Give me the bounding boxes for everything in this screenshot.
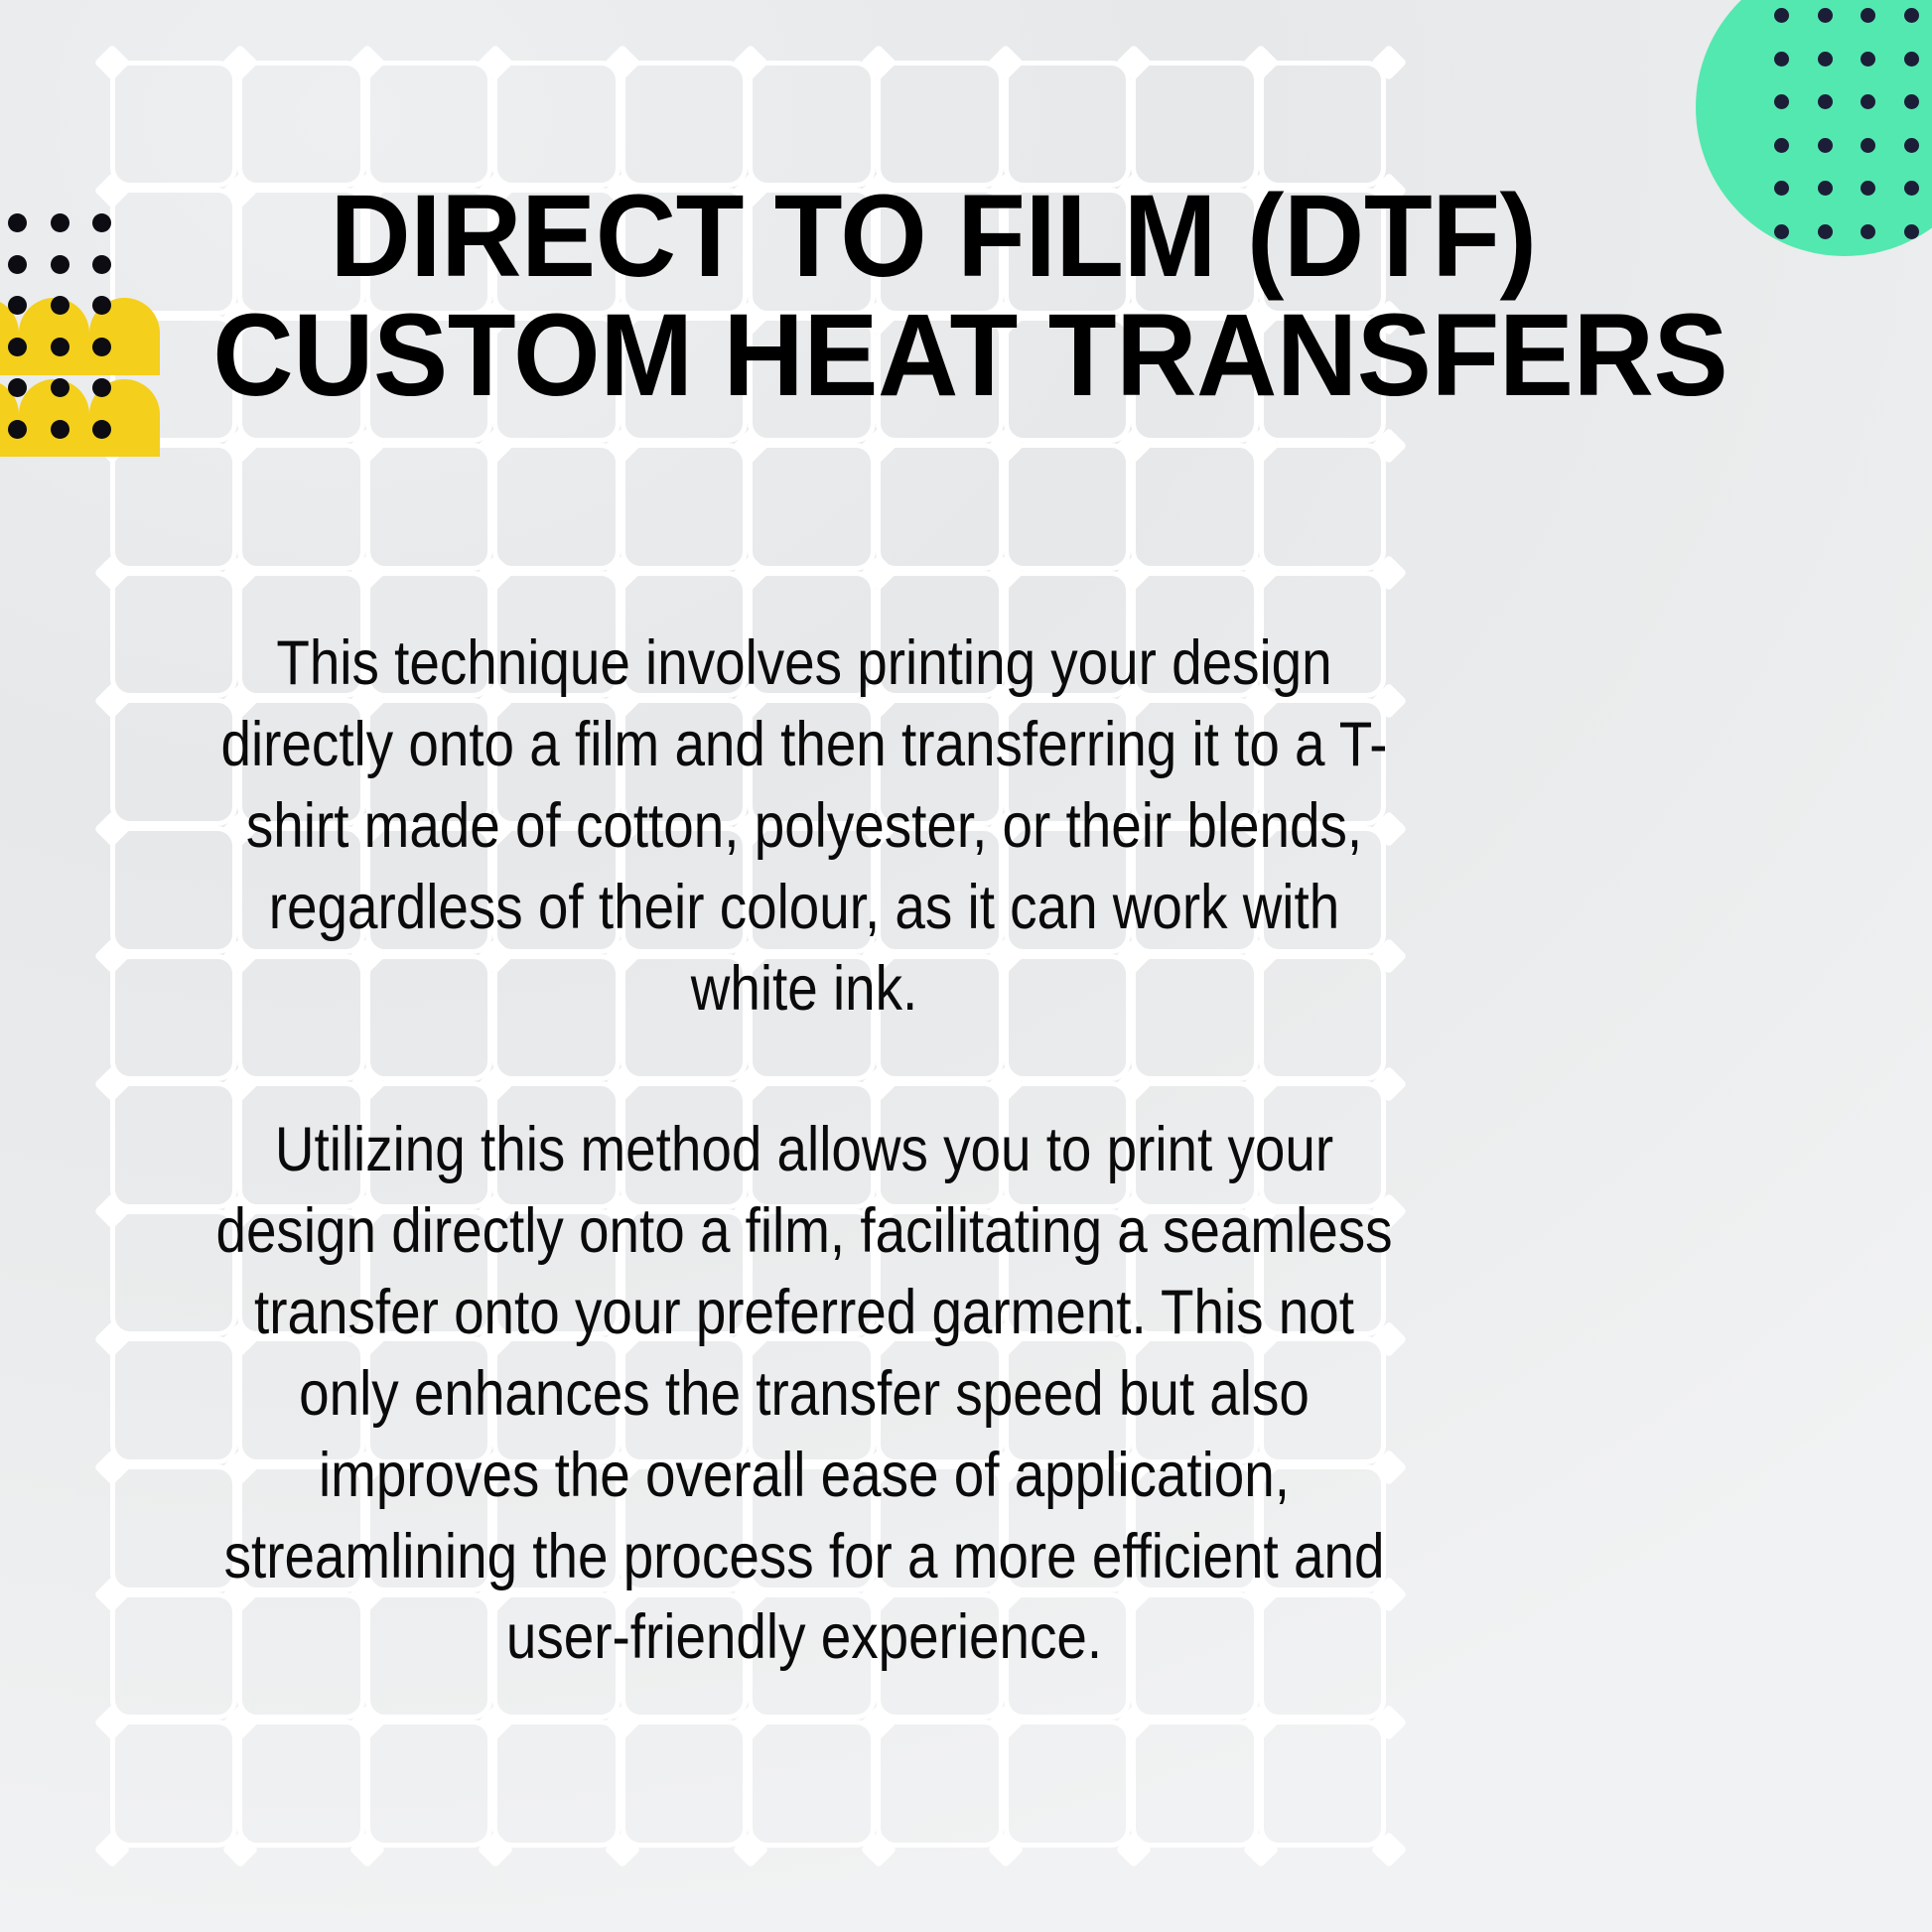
page-title-line-2: CUSTOM HEAT TRANSFERS: [212, 296, 1654, 415]
content-layer: DIRECT TO FILM (DTF) CUSTOM HEAT TRANSFE…: [0, 0, 1932, 1932]
body-copy: This technique involves printing your de…: [208, 623, 1401, 1679]
poster-canvas: DIRECT TO FILM (DTF) CUSTOM HEAT TRANSFE…: [0, 0, 1932, 1932]
paragraph-1: This technique involves printing your de…: [208, 623, 1401, 1030]
paragraph-2: Utilizing this method allows you to prin…: [208, 1110, 1401, 1679]
page-title-line-1: DIRECT TO FILM (DTF): [212, 177, 1654, 296]
page-title: DIRECT TO FILM (DTF) CUSTOM HEAT TRANSFE…: [212, 177, 1654, 416]
